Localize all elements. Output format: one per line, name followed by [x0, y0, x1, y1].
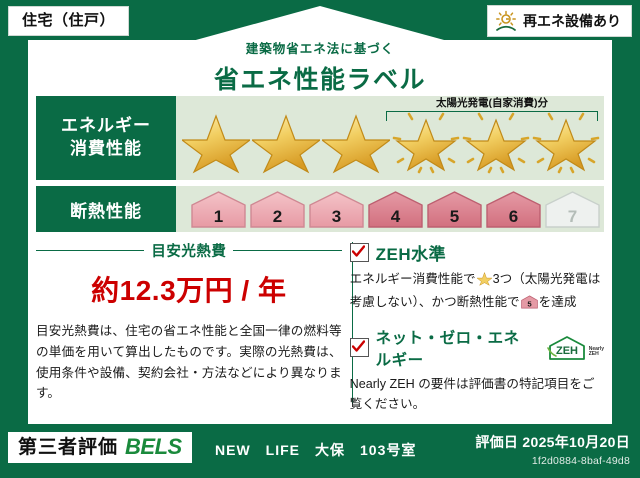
insulation-level-scale: 1 2 3 [190, 190, 601, 229]
zeh-body-part3: を達成 [539, 295, 577, 309]
insulation-performance-label-key: 断熱性能 [36, 186, 176, 232]
star-solar-icon [462, 108, 530, 174]
star-icon [182, 108, 250, 174]
energy-label-line1: エネルギー [61, 115, 151, 138]
heading-rule-left [36, 250, 144, 252]
energy-performance-label-key: エネルギー 消費性能 [36, 96, 176, 180]
svg-text:ZEH: ZEH [556, 345, 578, 357]
house-level-icon: 4 [367, 190, 424, 229]
star-icon [477, 271, 492, 292]
energy-star-rating [182, 108, 600, 174]
zeh-body-part1: エネルギー消費性能で [350, 272, 476, 286]
house-level-icon: 5 [426, 190, 483, 229]
zeh-standard-block: ZEH水準 エネルギー消費性能で 3つ（太陽光発電は考慮しない）、かつ断熱性能で… [350, 240, 604, 316]
renewable-badge-label: 再エネ設備あり [523, 14, 621, 28]
star-solar-icon [532, 108, 600, 174]
house-level-5-icon: 5 [521, 295, 538, 315]
insulation-levels-panel: 1 2 3 [176, 186, 604, 232]
building-name: NEW LIFE 大保 103号室 [215, 440, 416, 460]
utility-cost-value: 約12.3万円 / 年 [36, 269, 342, 309]
star-solar-icon [392, 108, 460, 174]
energy-performance-row: エネルギー 消費性能 太陽光発電(自家消費)分 [36, 96, 604, 180]
net-zero-energy-body: Nearly ZEH の要件は評価書の特記項目をご覧ください。 [350, 374, 604, 415]
net-zero-energy-title: ネット・ゼロ・エネルギー [376, 326, 535, 370]
house-level-number: 5 [426, 208, 483, 225]
house-level-number: 1 [190, 208, 247, 225]
energy-label-line2: 消費性能 [70, 138, 142, 161]
house-type-tag: 住宅（住戸） [8, 6, 129, 36]
solar-bracket-label: 太陽光発電(自家消費)分 [386, 98, 598, 109]
house-level-number: 4 [367, 208, 424, 225]
sun-solar-icon [494, 10, 518, 32]
house-level-icon: 3 [308, 190, 365, 229]
zeh-standard-title: ZEH水準 [376, 240, 447, 265]
zeh-section: ZEH水準 エネルギー消費性能で 3つ（太陽光発電は考慮しない）、かつ断熱性能で… [342, 238, 604, 416]
checkmark-icon [350, 338, 369, 357]
zeh-standard-heading: ZEH水準 [350, 240, 604, 265]
utility-cost-note: 目安光熱費は、住宅の省エネ性能と全国一律の燃料等の単価を用いて算出したものです。… [36, 321, 342, 404]
utility-cost-heading-text: 目安光熱費 [151, 240, 226, 261]
heading-rule-right [233, 250, 341, 252]
zeh-standard-body: エネルギー消費性能で 3つ（太陽光発電は考慮しない）、かつ断熱性能で 5を達成 [350, 269, 604, 316]
house-level-number: 6 [485, 208, 542, 225]
house-level-number: 7 [544, 208, 601, 225]
insulation-performance-row: 断熱性能 1 [36, 186, 604, 232]
star-icon [252, 108, 320, 174]
evaluation-id: 1f2d0884-8baf-49d8 [475, 455, 630, 467]
utility-cost-section: 目安光熱費 約12.3万円 / 年 目安光熱費は、住宅の省エネ性能と全国一律の燃… [36, 238, 342, 416]
renewable-equipment-badge: 再エネ設備あり [487, 5, 632, 37]
label-lower-section: 目安光熱費 約12.3万円 / 年 目安光熱費は、住宅の省エネ性能と全国一律の燃… [36, 238, 604, 416]
insulation-label: 断熱性能 [70, 197, 142, 222]
utility-cost-heading: 目安光熱費 [36, 240, 342, 261]
label-content: エネルギー 消費性能 太陽光発電(自家消費)分 [28, 92, 612, 424]
energy-stars-panel: 太陽光発電(自家消費)分 [176, 96, 604, 180]
house-level-icon-inactive: 7 [544, 190, 601, 229]
label-footer: 第三者評価 BELS NEW LIFE 大保 103号室 評価日 2025年10… [0, 424, 640, 478]
house-level-icon: 1 [190, 190, 247, 229]
energy-performance-label: 住宅（住戸） 再エネ設備あり 建築物省エネ法に基づく 省エネ性能ラベル [0, 0, 640, 478]
bels-badge: 第三者評価 BELS [8, 432, 192, 463]
checkmark-icon [350, 243, 369, 262]
svg-text:5: 5 [527, 300, 532, 309]
evaluation-date: 評価日 2025年10月20日 [475, 432, 630, 452]
net-zero-energy-block: ネット・ゼロ・エネルギー ZEH Nearly ZEH [350, 326, 604, 415]
bels-badge-jp: 第三者評価 [18, 438, 118, 457]
house-level-number: 3 [308, 208, 365, 225]
bels-badge-en: BELS [125, 436, 182, 458]
house-level-icon: 2 [249, 190, 306, 229]
house-level-number: 2 [249, 208, 306, 225]
zeh-logo-sub2: ZEH [589, 351, 599, 357]
zeh-house-logo: ZEH Nearly ZEH [546, 335, 604, 361]
net-zero-energy-heading: ネット・ゼロ・エネルギー ZEH Nearly ZEH [350, 326, 604, 370]
star-icon [322, 108, 390, 174]
house-level-icon: 6 [485, 190, 542, 229]
footer-right: 評価日 2025年10月20日 1f2d0884-8baf-49d8 [475, 432, 630, 467]
